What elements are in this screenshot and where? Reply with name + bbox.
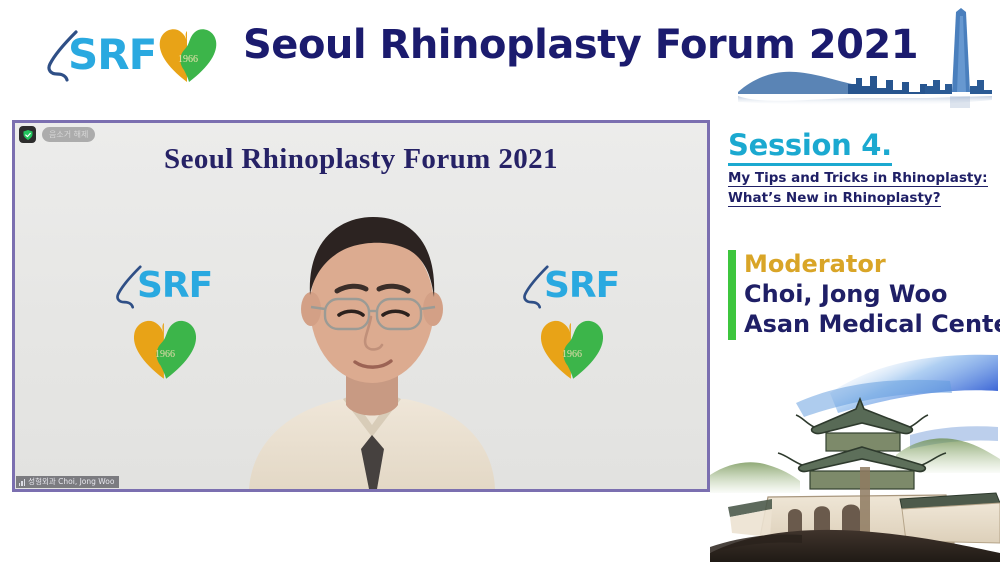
video-srf-wordmark-left: SRF: [137, 265, 212, 306]
video-srf-wordmark-right: SRF: [544, 265, 619, 306]
presentation-screen: SRF 1966 Seoul Rhinoplasty Forum 2021: [0, 0, 1000, 562]
shield-check-icon[interactable]: [19, 126, 36, 143]
participant-name-text: 성형외과 Choi, Jong Woo: [28, 476, 114, 488]
srf-wordmark: SRF: [68, 30, 156, 79]
heart-year-label: 1966: [534, 349, 610, 360]
speaker-video-subject: [247, 199, 497, 489]
signal-bars-icon: [19, 479, 25, 486]
srf-logo: SRF 1966: [24, 14, 219, 88]
session-subtitle-line-2: What’s New in Rhinoplasty?: [728, 190, 941, 207]
video-srf-logo-right: SRF 1966: [520, 263, 644, 383]
moderator-name: Choi, Jong Woo: [744, 279, 1000, 309]
heart-year-label: 1966: [127, 349, 203, 360]
mute-toggle-button[interactable]: 음소거 해제: [42, 127, 95, 142]
heart-logo-icon: 1966: [534, 313, 610, 381]
moderator-affiliation: Asan Medical Center: [744, 309, 1000, 339]
korean-palace-illustration: [710, 347, 1000, 562]
session-title: Session 4.: [728, 128, 892, 166]
video-toolbar[interactable]: 음소거 해제: [19, 126, 95, 143]
heart-year-label: 1966: [154, 54, 222, 65]
video-slide-title: Seoul Rhinoplasty Forum 2021: [15, 143, 707, 176]
moderator-role-label: Moderator: [744, 250, 1000, 279]
moderator-accent-bar: [728, 250, 736, 340]
session-subtitle-line-1: My Tips and Tricks in Rhinoplasty:: [728, 170, 988, 187]
video-conference-pane[interactable]: Seoul Rhinoplasty Forum 2021 SRF 1966 SR…: [12, 120, 710, 492]
header-band: SRF 1966 Seoul Rhinoplasty Forum 2021: [0, 0, 1000, 108]
seoul-skyline-icon: [730, 0, 1000, 108]
participant-name-label: 성형외과 Choi, Jong Woo: [16, 476, 119, 488]
moderator-block: Moderator Choi, Jong Woo Asan Medical Ce…: [728, 250, 1000, 339]
heart-logo-icon: 1966: [127, 313, 203, 381]
video-srf-logo-left: SRF 1966: [113, 263, 237, 383]
heart-logo-icon: 1966: [154, 22, 222, 84]
